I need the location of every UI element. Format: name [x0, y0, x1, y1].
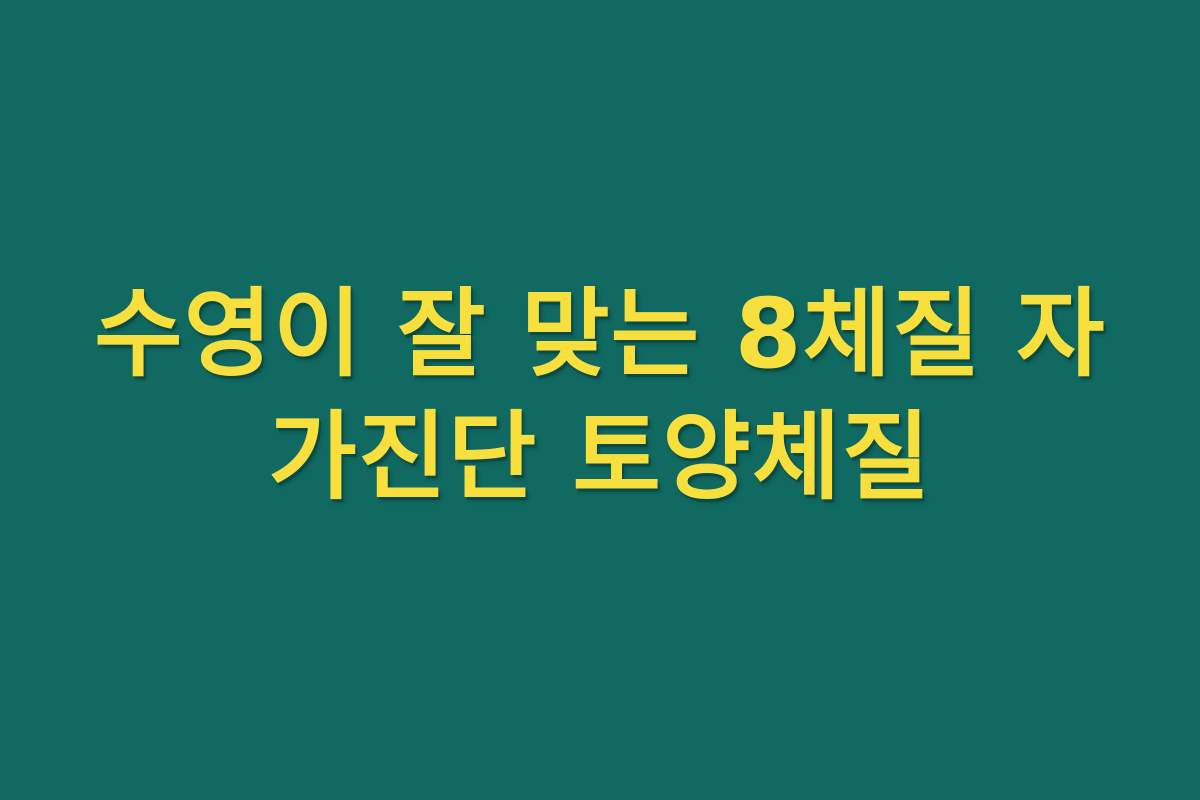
banner-canvas: 수영이 잘 맞는 8체질 자 가진단 토양체질 [0, 0, 1200, 800]
title-line-1: 수영이 잘 맞는 8체질 자 [80, 273, 1120, 396]
title-line-2: 가진단 토양체질 [80, 396, 1120, 519]
title-block: 수영이 잘 맞는 8체질 자 가진단 토양체질 [70, 273, 1130, 519]
